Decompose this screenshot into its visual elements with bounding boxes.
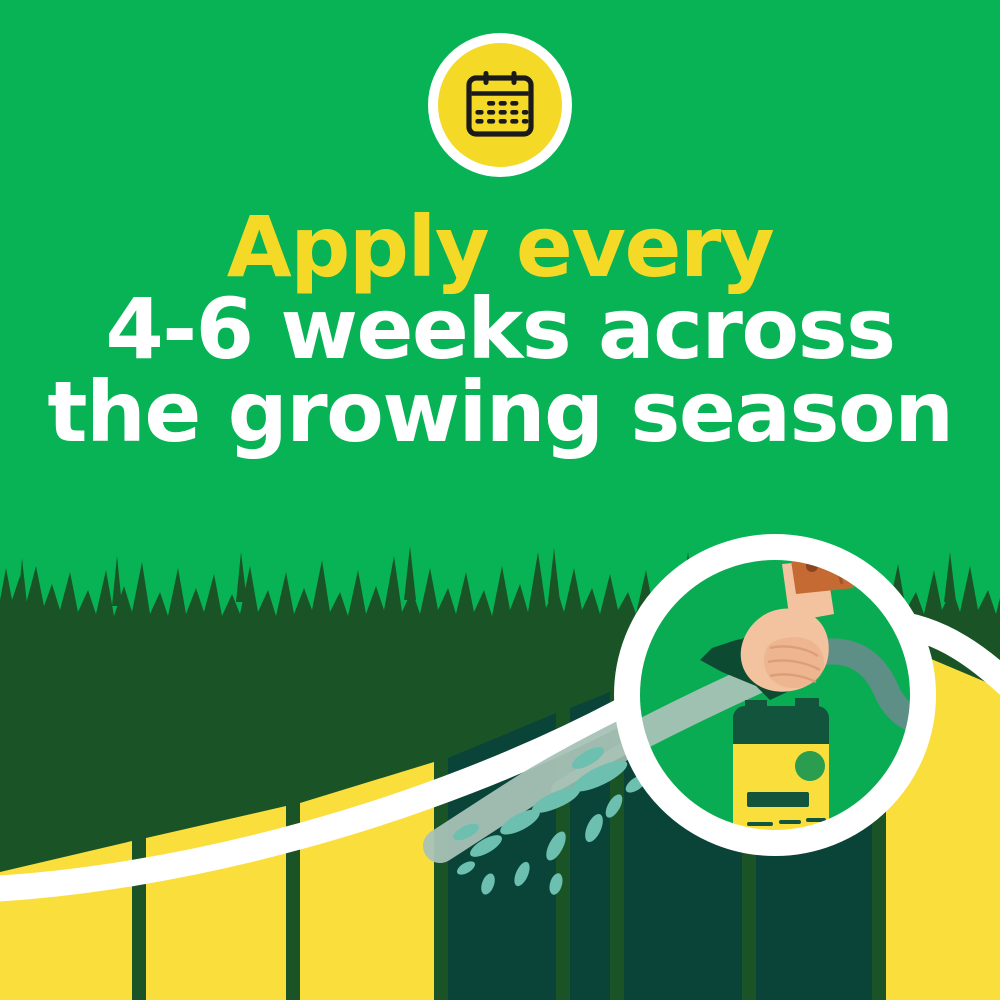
calendar-icon: [460, 65, 540, 145]
badge-ring: [428, 33, 572, 177]
headline-line-3: the growing season: [0, 371, 1000, 453]
bottle-label-bar: [747, 792, 809, 807]
fertilizer-bottle: [733, 698, 829, 844]
badge-disc: [438, 43, 562, 167]
headline-line-2: 4-6 weeks across: [0, 288, 1000, 370]
headline-line-1: Apply every: [0, 206, 1000, 288]
bottle-badge: [795, 751, 825, 781]
poster-canvas: Apply every 4-6 weeks across the growing…: [0, 0, 1000, 1000]
headline: Apply every 4-6 weeks across the growing…: [0, 206, 1000, 453]
calendar-badge: [0, 33, 1000, 177]
